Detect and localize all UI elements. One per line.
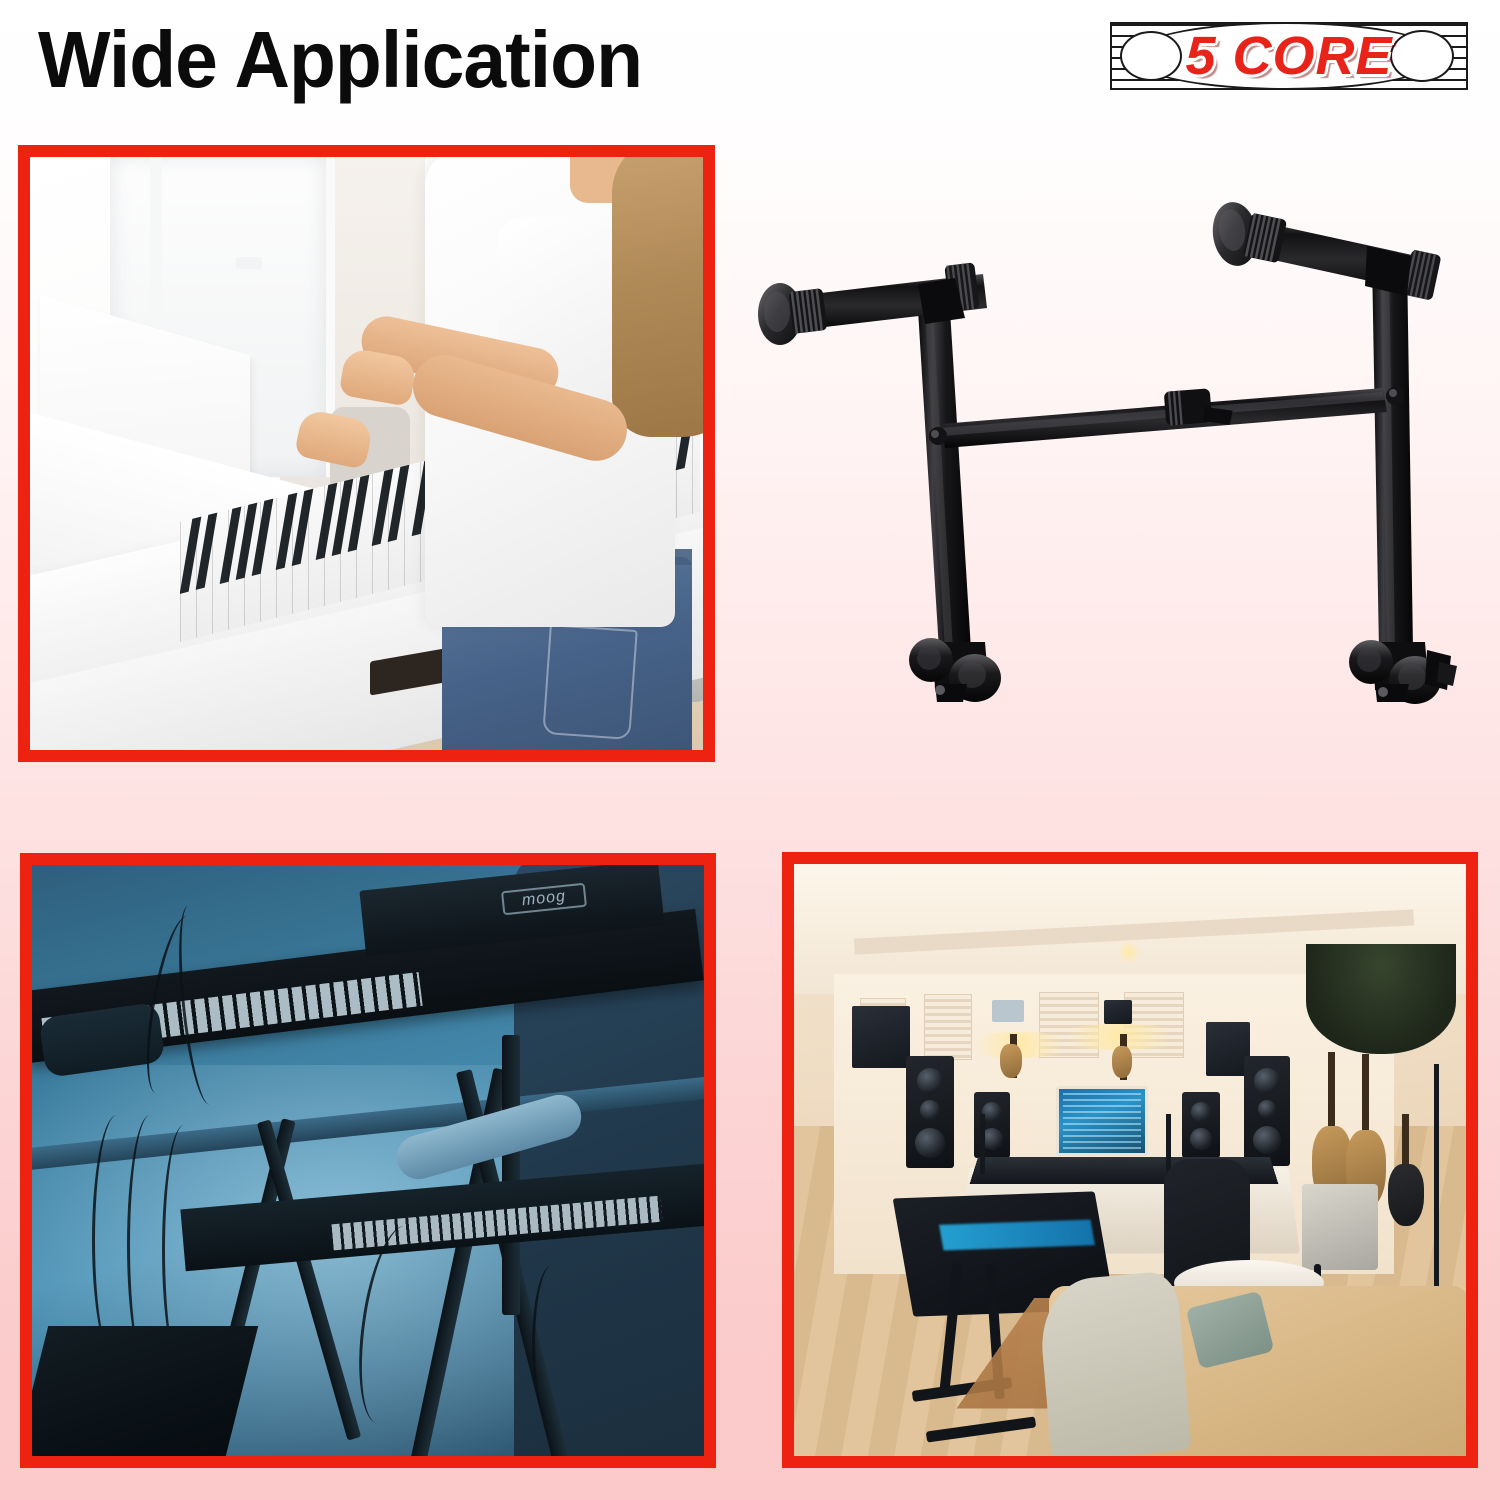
keyboard-led-glow [939, 1220, 1095, 1251]
panel-home-studio [782, 852, 1478, 1468]
stand-upright [502, 1035, 520, 1315]
long-blonde-hair [612, 157, 703, 437]
telescoping-crossbar [929, 387, 1404, 448]
knurled-knob-left-outer [789, 288, 828, 334]
floor-guitar-3 [1388, 1164, 1424, 1226]
mic-stand-floor-right [1434, 1064, 1439, 1314]
panel-home-piano [18, 145, 715, 762]
jeans-pocket [542, 624, 637, 740]
daw-waveform-lines [1063, 1093, 1141, 1149]
computer-screen [1056, 1086, 1148, 1156]
clamp-assembly-right [1349, 640, 1457, 704]
home-studio-photo [794, 864, 1466, 1456]
header: Wide Application 5 CORE [0, 0, 1500, 140]
support-arm-left [758, 262, 987, 345]
vertical-post-left [918, 310, 971, 650]
page-title: Wide Application [38, 20, 642, 100]
studio-monitor-right [1244, 1056, 1290, 1166]
ceiling-spotlight [1114, 942, 1144, 962]
stage-monitor [32, 1326, 258, 1456]
studio-monitor-left [906, 1056, 954, 1168]
wall-absorber-left [852, 1006, 910, 1068]
clamp-assembly-left [909, 638, 1001, 702]
panel-stage-keyboards: moog [20, 853, 716, 1468]
cable-7 [532, 1265, 572, 1425]
stage-keyboards-photo: moog [32, 865, 704, 1456]
vertical-post-right [1372, 260, 1413, 650]
product-keyboard-stand [735, 150, 1495, 760]
wall-guitar-1 [1000, 1044, 1022, 1078]
brand-name-text: 5 CORE [1110, 22, 1468, 90]
mic-stand-desk-left [980, 1114, 985, 1174]
knit-throw-blanket [1036, 1270, 1191, 1456]
mic-stand-desk-right [1166, 1114, 1171, 1174]
side-chair [1302, 1184, 1378, 1270]
framed-picture-2 [1104, 1000, 1132, 1024]
keyboard-stand-illustration [735, 150, 1495, 760]
framed-picture-1 [992, 1000, 1024, 1022]
home-piano-photo [30, 157, 703, 750]
wall-guitar-2 [1112, 1046, 1132, 1078]
support-arm-right [1209, 199, 1442, 300]
nearfield-monitor-right [1182, 1092, 1220, 1158]
hanging-plant [1306, 944, 1456, 1054]
brand-logo: 5 CORE [1110, 22, 1468, 90]
window-handle [236, 257, 262, 269]
